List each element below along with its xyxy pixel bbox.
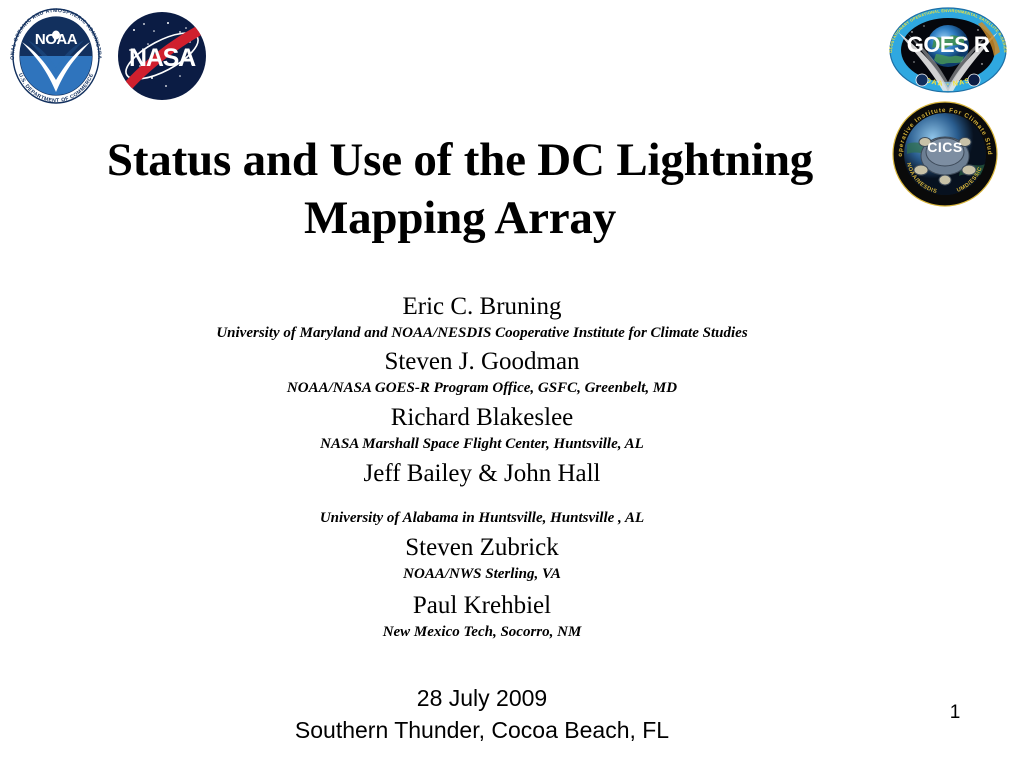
svg-text:GOES R: GOES R [907, 32, 990, 57]
title-line-1: Status and Use of the DC Lightning [62, 132, 858, 188]
footer-venue: Southern Thunder, Cocoa Beach, FL [162, 714, 802, 746]
author-affiliation: NASA Marshall Space Flight Center, Hunts… [112, 433, 852, 455]
slide-title: Status and Use of the DC Lightning Mappi… [62, 132, 858, 246]
title-line-2: Mapping Array [62, 190, 858, 246]
author-name: Paul Krehbiel [112, 591, 852, 621]
author-entry: Steven Zubrick NOAA/NWS Sterling, VA [112, 533, 852, 585]
svg-text:CICS: CICS [927, 139, 962, 155]
slide-footer: 28 July 2009 Southern Thunder, Cocoa Bea… [162, 682, 802, 746]
author-entry: Paul Krehbiel New Mexico Tech, Socorro, … [112, 591, 852, 643]
author-name: Eric C. Bruning [112, 292, 852, 322]
svg-text:NASA: NASA [129, 44, 196, 72]
footer-date: 28 July 2009 [162, 682, 802, 714]
author-entry: Steven J. Goodman NOAA/NASA GOES-R Progr… [112, 347, 852, 399]
noaa-logo: NATIONAL OCEANIC AND ATMOSPHERIC ADMINIS… [4, 6, 108, 104]
author-name: Jeff Bailey & John Hall [112, 459, 852, 489]
author-affiliation: New Mexico Tech, Socorro, NM [112, 621, 852, 643]
author-name: Steven J. Goodman [112, 347, 852, 377]
nasa-logo: NASA [110, 6, 214, 104]
goes-r-logo: GOES R GEOSTATIONARY OPERATIONAL ENVIRON… [878, 4, 1018, 96]
page-number: 1 [940, 702, 970, 724]
author-name: Steven Zubrick [112, 533, 852, 563]
author-affiliation: NOAA/NWS Sterling, VA [112, 563, 852, 585]
cics-logo: CICS Cooperative Institute For Climate S… [891, 100, 999, 208]
author-list: Eric C. Bruning University of Maryland a… [112, 292, 852, 643]
author-entry: Jeff Bailey & John Hall University of Al… [112, 459, 852, 529]
author-entry: Richard Blakeslee NASA Marshall Space Fl… [112, 403, 852, 455]
author-affiliation: University of Maryland and NOAA/NESDIS C… [112, 322, 852, 344]
author-entry: Eric C. Bruning University of Maryland a… [112, 292, 852, 344]
author-name: Richard Blakeslee [112, 403, 852, 433]
svg-text:NOAA: NOAA [35, 31, 78, 48]
author-affiliation: University of Alabama in Huntsville, Hun… [112, 507, 852, 529]
author-affiliation: NOAA/NASA GOES-R Program Office, GSFC, G… [112, 377, 852, 399]
